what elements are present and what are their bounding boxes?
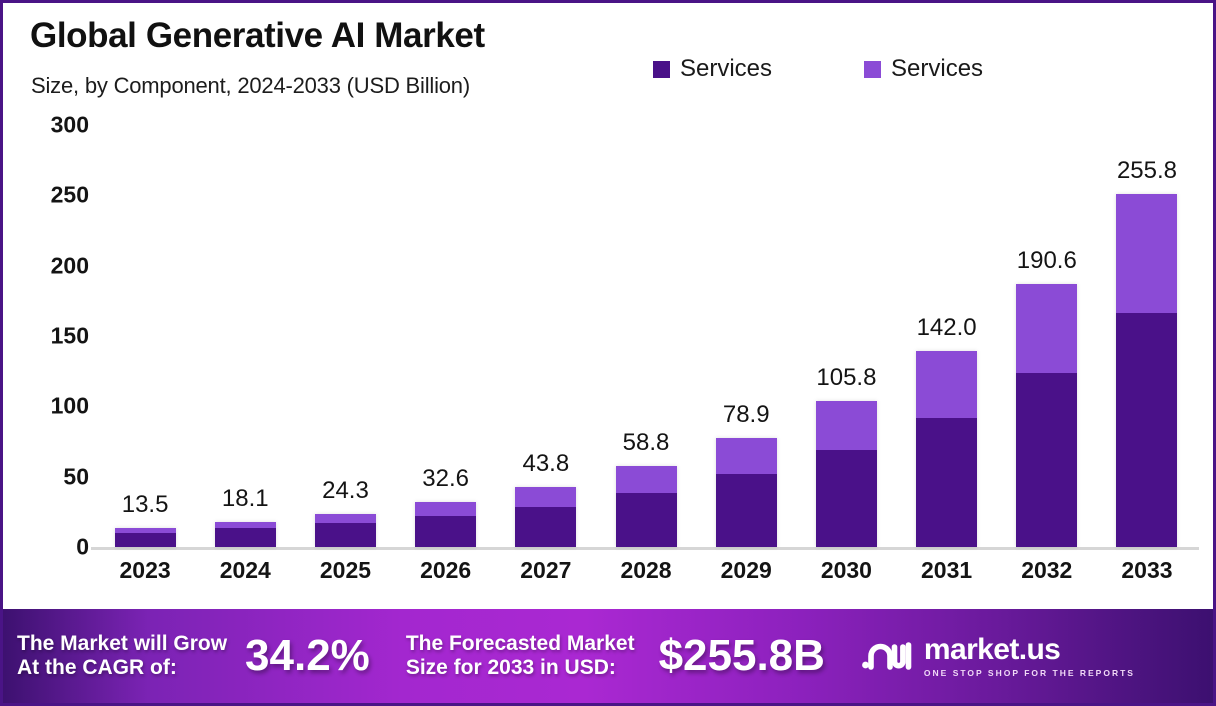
bar-stack[interactable]: 58.8 (616, 466, 677, 547)
x-axis-label: 2025 (295, 557, 395, 584)
y-axis-tick: 50 (63, 463, 89, 490)
bar-stack[interactable]: 24.3 (315, 514, 376, 547)
page-title: Global Generative AI Market (30, 16, 485, 56)
bar-stack[interactable]: 32.6 (415, 502, 476, 547)
market-us-logo-text: market.us ONE STOP SHOP FOR THE REPORTS (924, 635, 1135, 678)
x-axis-label: 2027 (496, 557, 596, 584)
legend-swatch-icon (864, 61, 881, 78)
logo-tagline: ONE STOP SHOP FOR THE REPORTS (924, 668, 1135, 678)
x-axis-label: 2030 (796, 557, 896, 584)
bar-stack[interactable]: 78.9 (716, 438, 777, 547)
x-axis-label: 2026 (396, 557, 496, 584)
bar-group[interactable]: 190.6 (997, 111, 1097, 547)
infographic-root: Global Generative AI Market Size, by Com… (0, 0, 1216, 706)
bar-segment-dark (616, 493, 677, 547)
cagr-caption-line1: The Market will Grow (17, 632, 227, 656)
cagr-value: 34.2% (245, 631, 370, 681)
logo-wordmark: market.us (924, 635, 1060, 665)
bar-segment-dark (115, 533, 176, 548)
bar-value-label: 43.8 (522, 450, 569, 478)
y-axis-tick: 200 (51, 252, 89, 279)
bar-segment-dark (816, 450, 877, 547)
y-axis-tick: 0 (76, 534, 89, 561)
bar-stack[interactable]: 190.6 (1016, 284, 1077, 547)
bar-group[interactable]: 43.8 (496, 111, 596, 547)
bar-group[interactable]: 105.8 (796, 111, 896, 547)
bar-value-label: 190.6 (1017, 247, 1077, 275)
bar-segment-dark (1116, 313, 1177, 547)
bar-group[interactable]: 78.9 (696, 111, 796, 547)
bar-group[interactable]: 18.1 (195, 111, 295, 547)
chart-header: Global Generative AI Market Size, by Com… (3, 3, 1213, 111)
x-axis-label: 2032 (997, 557, 1097, 584)
y-axis-tick: 250 (51, 182, 89, 209)
chart-plot-area: 300 250 200 150 100 50 0 13.5 18.1 (3, 111, 1213, 603)
bar-group[interactable]: 255.8 (1097, 111, 1197, 547)
bar-segment-dark (215, 528, 276, 547)
bar-stack[interactable]: 255.8 (1116, 194, 1177, 547)
bar-segment-light (1116, 194, 1177, 313)
y-axis: 300 250 200 150 100 50 0 (3, 111, 95, 551)
bar-segment-light (916, 351, 977, 418)
bar-segment-light (315, 514, 376, 523)
bar-segment-dark (515, 507, 576, 547)
bar-value-label: 18.1 (222, 485, 269, 513)
bar-series-container: 13.5 18.1 24.3 (95, 111, 1197, 547)
bar-value-label: 58.8 (623, 429, 670, 457)
x-axis-label: 2024 (195, 557, 295, 584)
bar-value-label: 24.3 (322, 477, 369, 505)
bar-segment-dark (315, 523, 376, 547)
x-axis-label: 2023 (95, 557, 195, 584)
x-axis-labels: 2023 2024 2025 2026 2027 2028 2029 2030 … (95, 557, 1197, 584)
bar-stack[interactable]: 43.8 (515, 487, 576, 547)
market-us-logo[interactable]: market.us ONE STOP SHOP FOR THE REPORTS (861, 635, 1135, 678)
bar-group[interactable]: 142.0 (897, 111, 997, 547)
x-axis-label: 2028 (596, 557, 696, 584)
legend-item-label: Services (680, 55, 772, 83)
bar-stack[interactable]: 105.8 (816, 401, 877, 547)
legend-swatch-icon (653, 61, 670, 78)
y-axis-tick: 150 (51, 323, 89, 350)
legend-item-services-dark[interactable]: Services (653, 55, 772, 83)
bar-stack[interactable]: 18.1 (215, 522, 276, 547)
bar-group[interactable]: 13.5 (95, 111, 195, 547)
legend-item-label: Services (891, 55, 983, 83)
bar-segment-light (716, 438, 777, 474)
bar-value-label: 78.9 (723, 401, 770, 429)
bar-segment-light (415, 502, 476, 516)
bar-segment-dark (1016, 373, 1077, 547)
chart-legend: Services Services (653, 55, 983, 83)
x-axis-label: 2029 (696, 557, 796, 584)
bar-stack[interactable]: 13.5 (115, 528, 176, 547)
y-axis-tick: 300 (51, 112, 89, 139)
forecast-caption-line1: The Forecasted Market (406, 632, 635, 656)
bar-value-label: 13.5 (122, 491, 169, 519)
bar-value-label: 255.8 (1117, 157, 1177, 185)
bar-segment-dark (716, 474, 777, 547)
cagr-block: The Market will Grow At the CAGR of: 34.… (17, 631, 370, 681)
cagr-caption-line2: At the CAGR of: (17, 656, 227, 680)
bar-stack[interactable]: 142.0 (916, 351, 977, 547)
market-us-logo-icon (861, 637, 913, 676)
forecast-block: The Forecasted Market Size for 2033 in U… (406, 631, 825, 681)
bar-segment-dark (415, 516, 476, 547)
bar-group[interactable]: 58.8 (596, 111, 696, 547)
x-axis-label: 2033 (1097, 557, 1197, 584)
x-axis-label: 2031 (897, 557, 997, 584)
bar-segment-light (816, 401, 877, 450)
bar-segment-dark (916, 418, 977, 547)
x-axis-line (91, 547, 1199, 550)
bar-value-label: 105.8 (816, 364, 876, 392)
page-subtitle: Size, by Component, 2024-2033 (USD Billi… (31, 73, 470, 99)
bar-segment-light (515, 487, 576, 507)
bar-group[interactable]: 32.6 (396, 111, 496, 547)
bar-group[interactable]: 24.3 (295, 111, 395, 547)
legend-item-services-light[interactable]: Services (864, 55, 983, 83)
bar-segment-light (616, 466, 677, 493)
bottom-banner: The Market will Grow At the CAGR of: 34.… (3, 609, 1213, 703)
forecast-caption-line2: Size for 2033 in USD: (406, 656, 635, 680)
y-axis-tick: 100 (51, 393, 89, 420)
forecast-caption: The Forecasted Market Size for 2033 in U… (406, 632, 635, 679)
bar-segment-light (1016, 284, 1077, 373)
forecast-value: $255.8B (659, 631, 825, 681)
bar-value-label: 142.0 (917, 314, 977, 342)
bar-value-label: 32.6 (422, 465, 469, 493)
cagr-caption: The Market will Grow At the CAGR of: (17, 632, 227, 679)
